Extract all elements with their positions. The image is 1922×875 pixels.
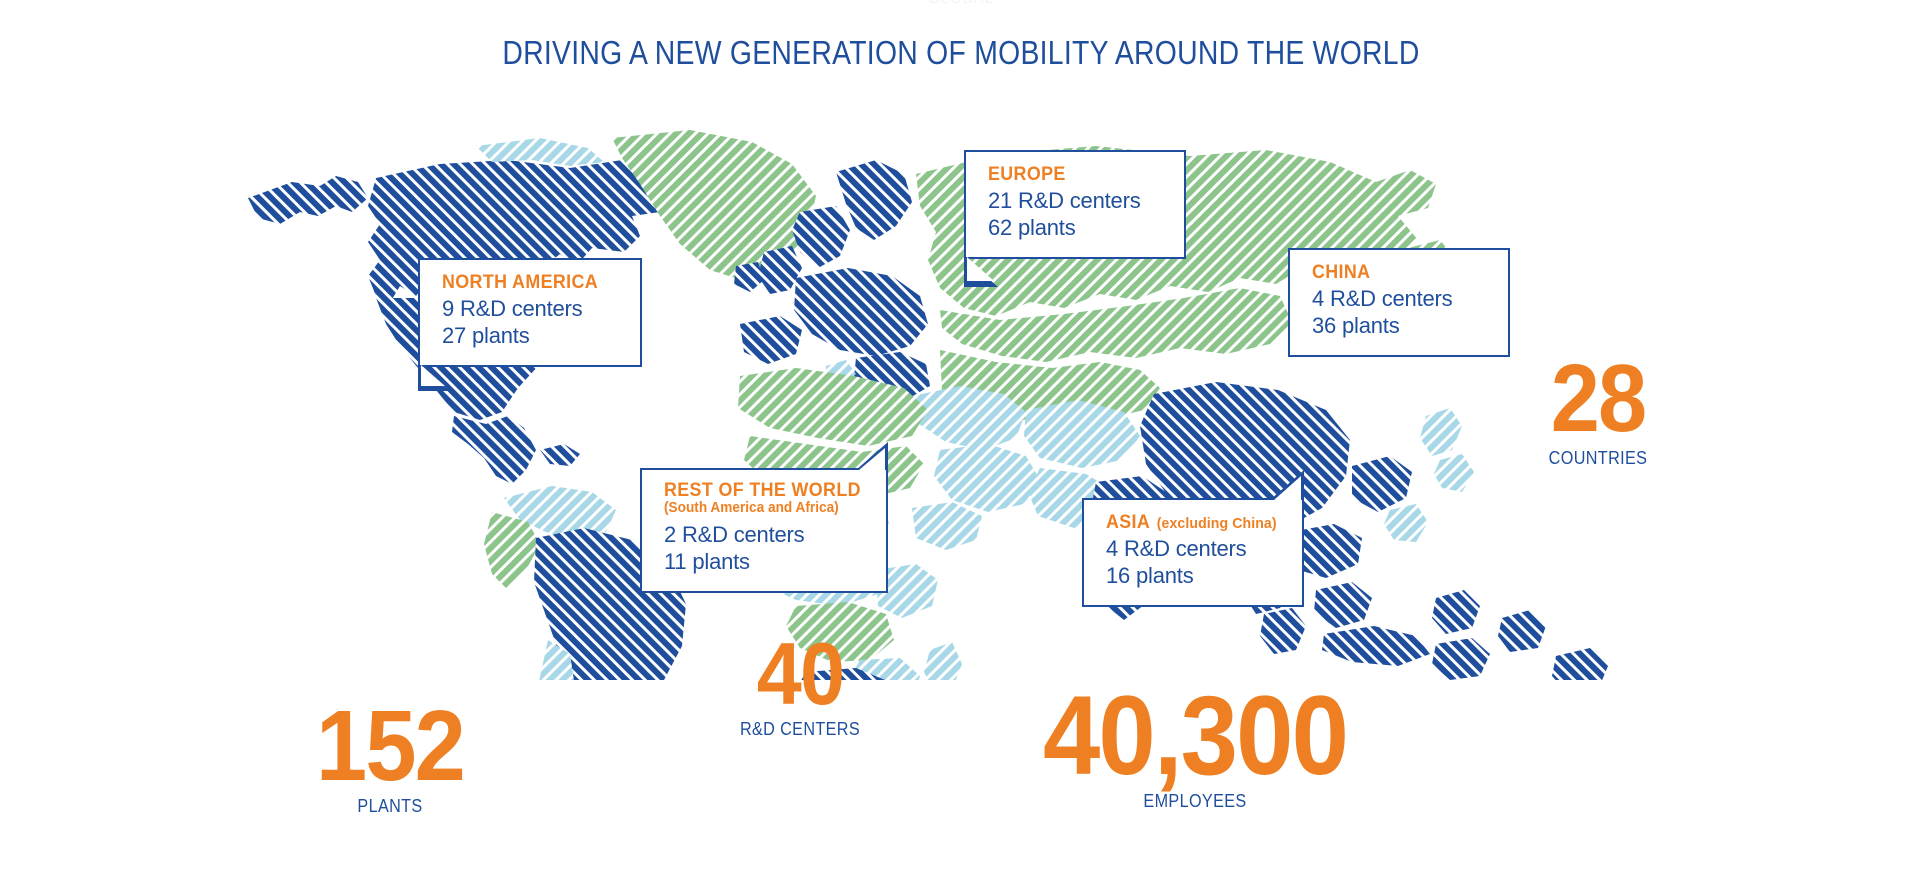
stat-label: EMPLOYEES <box>1038 791 1353 812</box>
callout-heading: EUROPE <box>988 165 1155 184</box>
callout-tail-inner <box>967 257 994 281</box>
callout-line-plants: 36 plants <box>1312 313 1490 340</box>
callout-line-plants: 16 plants <box>1106 563 1284 590</box>
callout-subheading: (South America and Africa) <box>664 501 856 516</box>
stat-rd-centers: 40 R&D CENTERS <box>700 638 900 740</box>
callout-tail-inner <box>1274 476 1301 500</box>
callout-line-plants: 62 plants <box>988 215 1166 242</box>
callout-tail-inner <box>859 448 885 470</box>
callout-heading-main: ASIA <box>1106 512 1150 533</box>
callout-line-plants: 27 plants <box>442 323 622 350</box>
world-map <box>240 120 1660 680</box>
callout-heading: CHINA <box>1312 263 1479 282</box>
callout-asia[interactable]: ASIA(excluding China) 4 R&D centers 16 p… <box>1082 498 1304 607</box>
stat-employees: 40,300 EMPLOYEES <box>1020 690 1370 812</box>
callout-rest-of-world[interactable]: REST OF THE WORLD (South America and Afr… <box>640 468 888 593</box>
callout-north-america[interactable]: NORTH AMERICA 9 R&D centers 27 plants <box>418 258 642 367</box>
callout-europe[interactable]: EUROPE 21 R&D centers 62 plants <box>964 150 1186 259</box>
callout-heading: REST OF THE WORLD <box>664 481 856 500</box>
stat-value: 28 <box>1506 360 1690 439</box>
stat-label: COUNTRIES <box>1508 448 1688 469</box>
callout-heading: ASIA(excluding China) <box>1106 513 1273 532</box>
world-map-svg <box>240 120 1660 680</box>
callout-line-rd: 21 R&D centers <box>988 188 1166 215</box>
page-title: DRIVING A NEW GENERATION OF MOBILITY ARO… <box>135 34 1788 72</box>
infographic-root: GLOBAL DRIVING A NEW GENERATION OF MOBIL… <box>0 0 1922 875</box>
callout-line-plants: 11 plants <box>664 549 868 576</box>
stat-label: R&D CENTERS <box>710 719 890 740</box>
stat-plants: 152 PLANTS <box>250 705 530 817</box>
callout-heading-inline-note: (excluding China) <box>1157 515 1277 532</box>
stat-label: PLANTS <box>264 796 516 817</box>
stat-value: 152 <box>261 705 519 787</box>
callout-line-rd: 4 R&D centers <box>1312 286 1490 313</box>
stat-value: 40,300 <box>1034 690 1356 782</box>
clipped-top-text: GLOBAL <box>0 0 1922 7</box>
stat-countries: 28 COUNTRIES <box>1498 360 1698 469</box>
callout-tail-inner <box>421 365 445 386</box>
callout-heading: NORTH AMERICA <box>442 273 611 292</box>
stat-value: 40 <box>708 638 892 710</box>
callout-line-rd: 4 R&D centers <box>1106 536 1284 563</box>
callout-line-rd: 9 R&D centers <box>442 296 622 323</box>
callout-line-rd: 2 R&D centers <box>664 522 868 549</box>
callout-china[interactable]: CHINA 4 R&D centers 36 plants <box>1288 248 1510 357</box>
